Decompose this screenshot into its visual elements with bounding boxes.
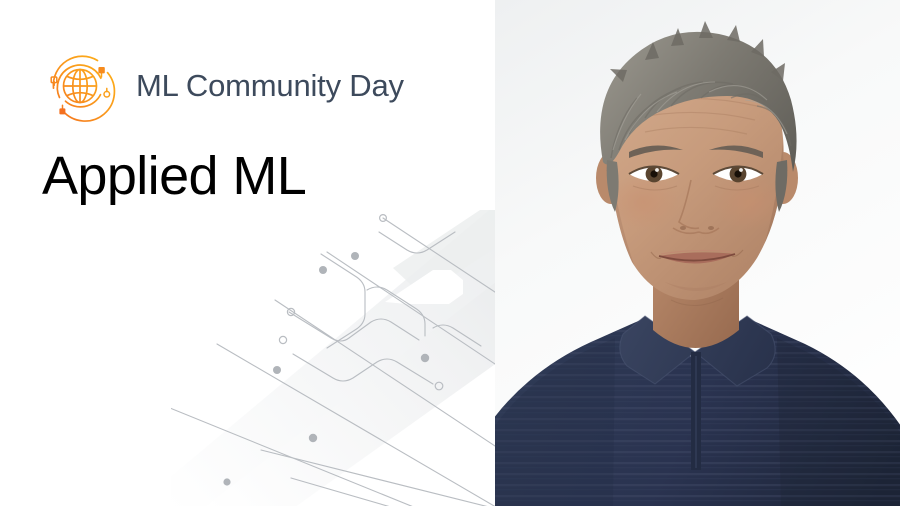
decor-circuit-lines [171, 218, 495, 506]
circuit-trace-pattern [171, 210, 495, 506]
speaker-photo-panel [495, 0, 900, 506]
brand-lockup: ML Community Day [40, 45, 404, 125]
decor-diagonal-bands [171, 210, 495, 506]
speaker-portrait [495, 0, 900, 506]
globe-network-orbit-icon [40, 45, 120, 125]
brand-wordmark: ML Community Day [136, 70, 404, 101]
left-content-panel: ML Community Day Applied ML [0, 0, 495, 506]
page-title: Applied ML [42, 147, 306, 205]
decor-circuit-nodes [223, 215, 442, 486]
slide-root: ML Community Day Applied ML [0, 0, 900, 506]
